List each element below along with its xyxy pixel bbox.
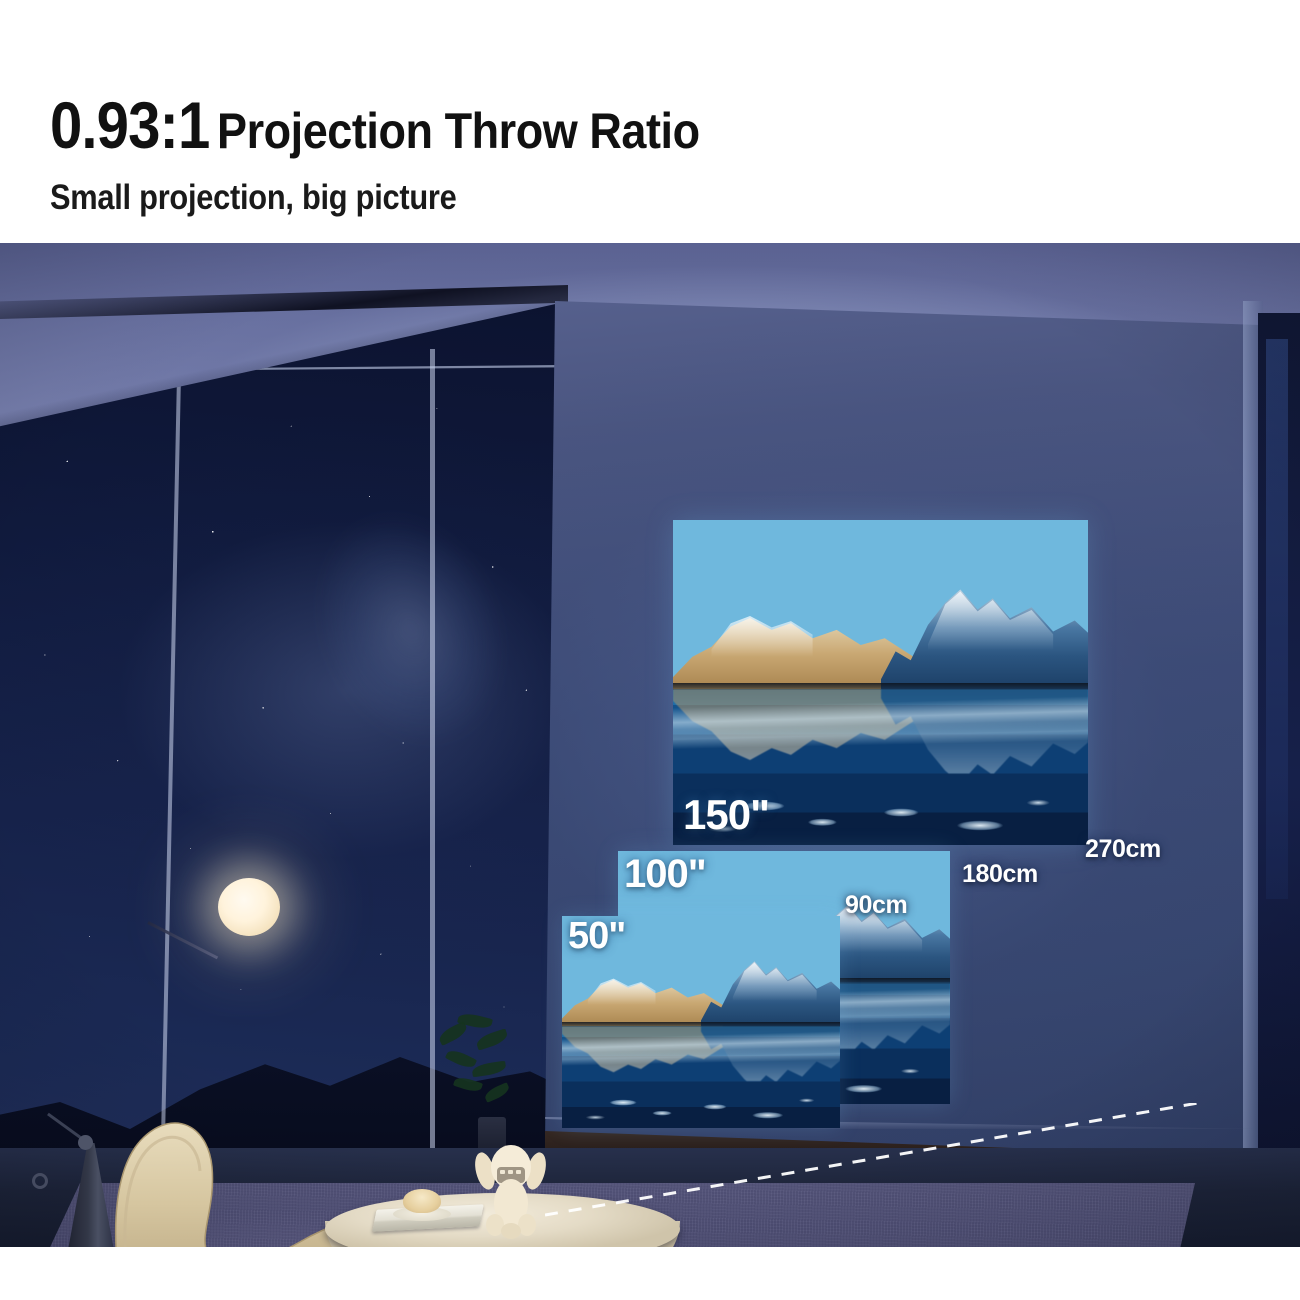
screen-size-label-100: 100" [624,852,706,897]
distance-label-180cm: 180cm [962,860,1038,889]
throw-distance-line [545,1103,1245,1223]
throw-ratio-value: 0.93:1 [50,92,209,158]
page-title: 0.93:1Projection Throw Ratio [50,92,753,158]
page-subtitle: Small projection, big picture [50,178,456,218]
lamp-ring [32,1173,48,1189]
indoor-plant [432,1013,522,1133]
room-photo: 150" 100" 50 [0,243,1300,1247]
screen-size-label-50: 50" [568,915,625,958]
distance-label-270cm: 270cm [1085,835,1161,864]
screen-size-label-150: 150" [683,791,769,839]
far-window-glass [1266,339,1288,899]
plush-dog-toy [473,1141,549,1239]
moon-lamp-icon [218,878,280,936]
throw-ratio-caption: Projection Throw Ratio [217,106,700,156]
header-banner: 0.93:1Projection Throw Ratio Small proje… [0,0,1300,243]
cup [403,1189,441,1213]
lamp-knob [78,1135,93,1150]
distance-label-90cm: 90cm [845,891,907,920]
footer-whitespace [0,1247,1300,1300]
